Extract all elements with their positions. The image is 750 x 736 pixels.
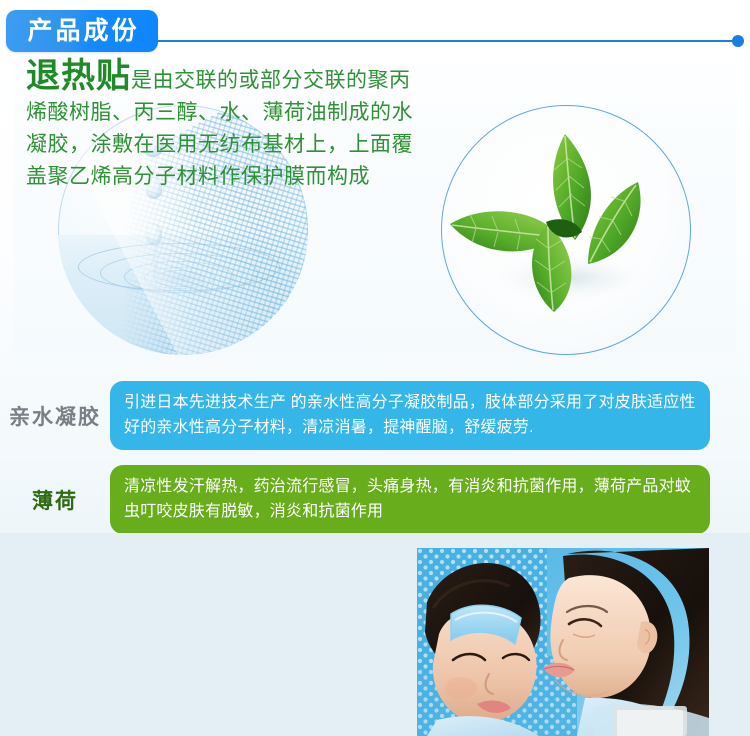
section-title-text: 产品成份 bbox=[24, 19, 139, 44]
callout-label-mint: 薄荷 bbox=[0, 485, 110, 515]
callout-text-mint: 清凉性发汗解热，药治流行感冒，头痛身热，有消炎和抗菌作用，薄荷产品对蚊虫叮咬皮肤… bbox=[110, 465, 710, 534]
product-name-heading: 退热贴 bbox=[26, 57, 131, 95]
callout-label-gel: 亲水凝胶 bbox=[0, 401, 110, 431]
section-title-badge: 产品成份 bbox=[6, 10, 158, 52]
callout-text-gel: 引进日本先进技术生产 的亲水性高分子凝胶制品，肢体部分采用了对皮肤适应性好的亲水… bbox=[110, 381, 710, 450]
mother-and-child-photo bbox=[417, 548, 709, 736]
mint-leaves-illustration bbox=[442, 106, 691, 355]
callout-row-gel: 亲水凝胶 引进日本先进技术生产 的亲水性高分子凝胶制品，肢体部分采用了对皮肤适应… bbox=[0, 381, 710, 450]
product-summary-text: 退热贴是由交联的或部分交联的聚丙烯酸树脂、丙三醇、水、薄荷油制成的水凝胶，涂敷在… bbox=[26, 60, 416, 193]
header-divider-line bbox=[158, 40, 736, 42]
product-usage-photo bbox=[417, 548, 709, 736]
ingredient-descriptions: 亲水凝胶 引进日本先进技术生产 的亲水性高分子凝胶制品，肢体部分采用了对皮肤适应… bbox=[0, 358, 750, 533]
product-ingredient-detail-page: 产品成份 bbox=[0, 0, 750, 736]
callout-row-mint: 薄荷 清凉性发汗解热，药治流行感冒，头痛身热，有消炎和抗菌作用，薄荷产品对蚊虫叮… bbox=[0, 465, 710, 534]
header-end-dot-icon bbox=[732, 35, 744, 47]
mint-leaf-circle-image bbox=[441, 105, 691, 355]
